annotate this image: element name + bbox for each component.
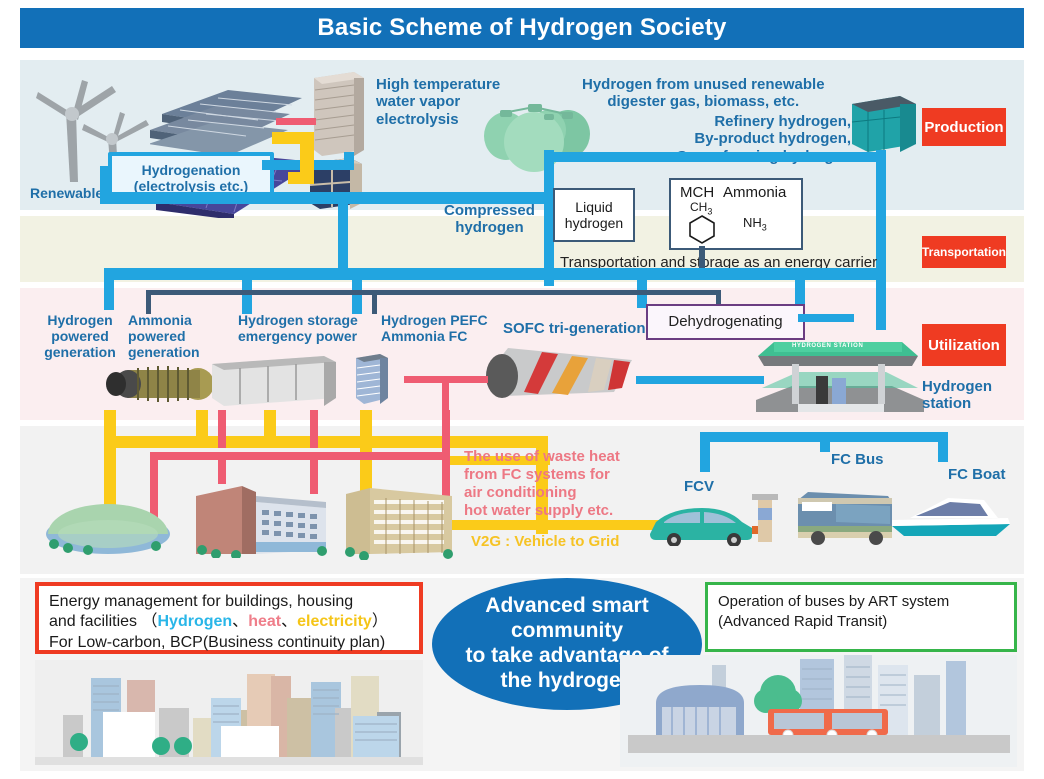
box-dehydrogenating: Dehydrogenating bbox=[646, 304, 805, 340]
pipe-right-drop bbox=[876, 268, 886, 330]
label-hydrogen-station-sign: HYDROGEN STATION bbox=[792, 343, 863, 349]
pipe-red-c2 bbox=[310, 410, 318, 448]
art-city-scene-icon bbox=[620, 655, 1017, 767]
benzene-ring-icon bbox=[687, 214, 717, 244]
energy-line2-prefix: and facilities （ bbox=[49, 613, 158, 630]
energy-line2-suffix: ） bbox=[372, 613, 388, 630]
pipe-dark-util-bus bbox=[146, 290, 720, 295]
fc-bus-icon bbox=[790, 480, 902, 546]
scene-city-right bbox=[620, 655, 1017, 767]
pipe-blue-bus-drop bbox=[820, 432, 830, 452]
scene-city-left bbox=[35, 660, 423, 765]
page-title-text: Basic Scheme of Hydrogen Society bbox=[317, 14, 726, 42]
pipe-yellow-bottom bbox=[288, 172, 314, 184]
pipe-blue-boat-drop bbox=[938, 432, 948, 462]
apartment-building-icon bbox=[340, 478, 462, 560]
energy-keyword-electricity: electricity bbox=[297, 613, 372, 630]
stage-tag-utilization: Utilization bbox=[922, 324, 1006, 366]
stage-tag-production: Production bbox=[922, 108, 1006, 146]
storage-cabinets-icon bbox=[208, 352, 340, 408]
page-title: Basic Scheme of Hydrogen Society bbox=[20, 8, 1024, 48]
label-ammonia-powered-generation: Ammoniapoweredgeneration bbox=[128, 312, 212, 360]
energy-line-1: Energy management for buildings, housing bbox=[49, 592, 409, 612]
label-ammonia-formula: NH3 bbox=[743, 216, 767, 233]
label-hydrogen-pefc: Hydrogen PEFCAmmonia FC bbox=[381, 312, 488, 344]
pipe-dehydro-to-station bbox=[798, 314, 854, 322]
pipe-yellow-v2g-bus bbox=[450, 520, 660, 530]
pipe-carrier-left-down bbox=[338, 202, 348, 272]
pipe-mch-down bbox=[699, 246, 705, 268]
pipe-yellow-top bbox=[272, 132, 314, 144]
pefc-unit-icon bbox=[354, 348, 390, 406]
label-compressed-hydrogen: Compressed hydrogen bbox=[444, 202, 535, 237]
pipe-production-bus bbox=[544, 152, 884, 162]
energy-sep-2: 、 bbox=[281, 613, 297, 630]
stage-tag-transportation: Transportation bbox=[922, 236, 1006, 268]
dome-facility-icon bbox=[44, 500, 172, 556]
pipe-red-bus bbox=[150, 452, 450, 460]
pipe-sofc-to-station bbox=[636, 376, 764, 384]
label-unused-renewable: Hydrogen from unused renewable digester … bbox=[582, 76, 825, 111]
gas-turbine-icon bbox=[94, 360, 218, 408]
pipe-dark-ammonia-drop bbox=[146, 290, 151, 314]
label-mch: MCH bbox=[680, 184, 714, 201]
energy-line-2: and facilities （Hydrogen、heat、electricit… bbox=[49, 612, 409, 632]
label-sofc: SOFC tri-generation bbox=[503, 320, 646, 337]
label-hydrogen-powered-generation: Hydrogenpoweredgeneration bbox=[38, 312, 122, 360]
box-mch-ammonia: MCH Ammonia CH3 NH3 bbox=[669, 178, 803, 250]
label-hydrogen-station: Hydrogenstation bbox=[922, 378, 992, 413]
panel-art-system: Operation of buses by ART system (Advanc… bbox=[705, 582, 1017, 652]
energy-sep-1: 、 bbox=[232, 613, 248, 630]
fc-boat-icon bbox=[888, 490, 1014, 540]
label-fcv: FCV bbox=[684, 478, 714, 495]
label-waste-heat: The use of waste heat from FC systems fo… bbox=[464, 448, 620, 520]
art-line-1: Operation of buses by ART system bbox=[718, 592, 1004, 612]
label-v2g: V2G : Vehicle to Grid bbox=[471, 533, 619, 550]
sofc-device-icon bbox=[484, 340, 640, 402]
pipe-red-c1 bbox=[218, 410, 226, 448]
pipe-red-pv-to-tower bbox=[276, 118, 316, 125]
label-fc-bus: FC Bus bbox=[831, 451, 884, 468]
energy-keyword-hydrogen: Hydrogen bbox=[158, 613, 233, 630]
label-hydrogen-storage: Hydrogen storageemergency power bbox=[238, 312, 358, 344]
box-liquid-hydrogen: Liquid hydrogen bbox=[553, 188, 635, 242]
ev-charger-icon bbox=[752, 494, 778, 546]
label-fc-boat: FC Boat bbox=[948, 466, 1006, 483]
pipe-util-drop-1 bbox=[104, 268, 114, 310]
city-skyline-left-icon bbox=[35, 660, 423, 765]
electrolysis-tower-icon bbox=[308, 68, 368, 156]
office-building-icon bbox=[186, 478, 334, 558]
pipe-dark-pefc-drop bbox=[372, 290, 377, 314]
pipe-transport-bus-left bbox=[104, 268, 348, 280]
pipe-tower-drop bbox=[344, 152, 354, 170]
panel-energy-management: Energy management for buildings, housing… bbox=[35, 582, 423, 654]
energy-line-3: For Low-carbon, BCP(Business continuity … bbox=[49, 633, 409, 653]
diagram-canvas: Basic Scheme of Hydrogen Society bbox=[0, 0, 1044, 779]
label-ammonia: Ammonia bbox=[723, 184, 786, 201]
fcv-car-icon bbox=[646, 498, 758, 546]
pipe-yellow-bus-1 bbox=[104, 436, 548, 448]
art-line-2: (Advanced Rapid Transit) bbox=[718, 612, 1004, 632]
pipe-refinery-down bbox=[876, 150, 886, 272]
refinery-plant-icon bbox=[848, 92, 920, 154]
energy-keyword-heat: heat bbox=[248, 613, 281, 630]
